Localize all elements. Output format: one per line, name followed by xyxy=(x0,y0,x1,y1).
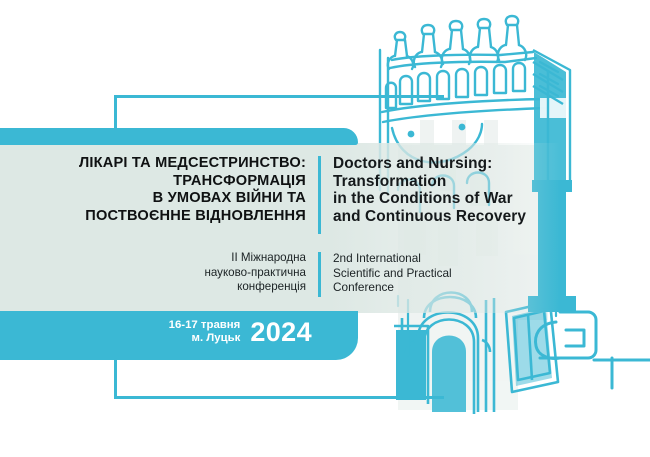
date-block: 16-17 травня м. Луцьк 2024 xyxy=(0,318,340,346)
title-english: Doctors and Nursing: Transformation in t… xyxy=(333,155,560,225)
conference-poster: ЛІКАРІ ТА МЕДСЕСТРИНСТВО: ТРАНСФОРМАЦІЯ … xyxy=(0,0,650,457)
subtitle-english: 2nd International Scientific and Practic… xyxy=(333,251,560,295)
castle-door-panels xyxy=(506,302,558,392)
subtitle-block: II Міжнародна науково-практична конферен… xyxy=(0,251,560,303)
date-and-place: 16-17 травня м. Луцьк xyxy=(169,319,241,346)
castle-roof-ticks xyxy=(540,62,558,96)
teal-bar-top xyxy=(0,128,358,145)
title-divider xyxy=(318,156,321,234)
year-label: 2024 xyxy=(250,318,312,346)
castle-bracket-detail xyxy=(536,312,650,388)
subtitle-divider xyxy=(318,252,321,297)
title-block: ЛІКАРІ ТА МЕДСЕСТРИНСТВО: ТРАНСФОРМАЦІЯ … xyxy=(0,155,560,240)
title-ukrainian: ЛІКАРІ ТА МЕДСЕСТРИНСТВО: ТРАНСФОРМАЦІЯ … xyxy=(0,155,306,225)
subtitle-ukrainian: II Міжнародна науково-практична конферен… xyxy=(0,251,306,295)
